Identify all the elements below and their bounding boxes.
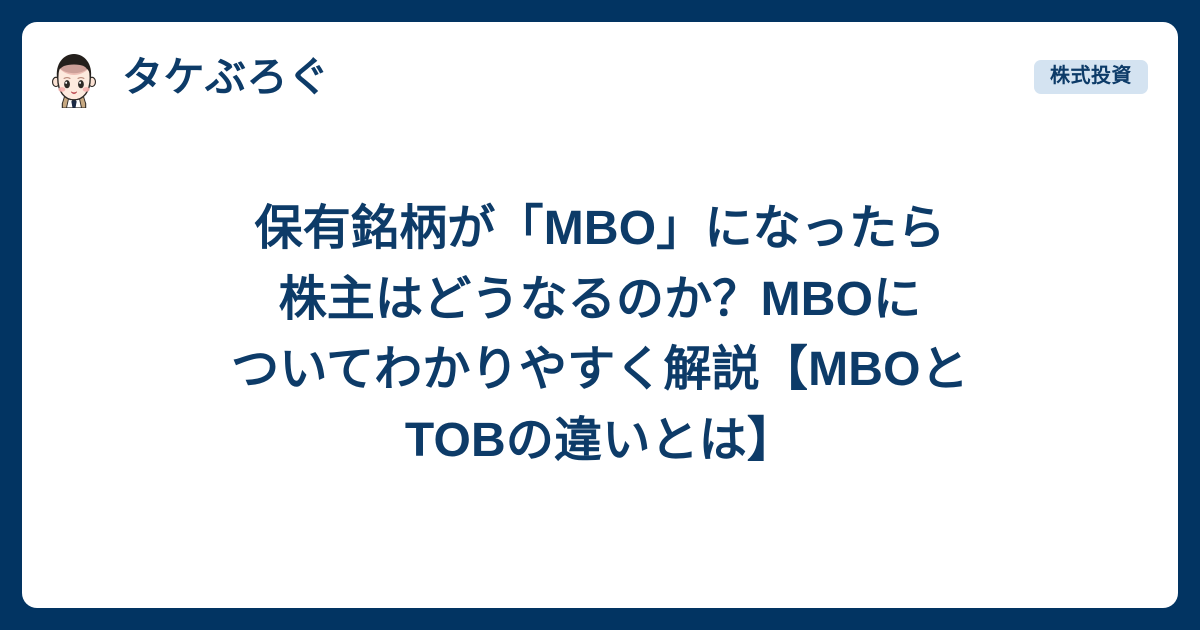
- avatar: [45, 50, 103, 108]
- post-title-area: 保有銘柄が「MBO」になったら 株主はどうなるのか？MBOに ついてわかりやすく…: [22, 132, 1178, 608]
- og-image-frame: タケぶろぐ 株式投資 保有銘柄が「MBO」になったら 株主はどうなるのか？MBO…: [0, 0, 1200, 630]
- category-badge[interactable]: 株式投資: [1034, 60, 1148, 94]
- site-header: タケぶろぐ 株式投資: [22, 22, 1178, 132]
- site-title[interactable]: タケぶろぐ: [122, 57, 330, 98]
- page-title-line: 株主はどうなるのか？MBOに: [231, 265, 969, 336]
- avatar-illustration-icon: [45, 50, 103, 108]
- page-title-line: 保有銘柄が「MBO」になったら: [231, 194, 969, 265]
- page-title-line: ついてわかりやすく解説【MBOと: [231, 335, 969, 406]
- page-title-line: TOBの違いとは】: [231, 406, 969, 477]
- content-card: タケぶろぐ 株式投資 保有銘柄が「MBO」になったら 株主はどうなるのか？MBO…: [22, 22, 1178, 608]
- page-title: 保有銘柄が「MBO」になったら 株主はどうなるのか？MBOに ついてわかりやすく…: [231, 194, 969, 476]
